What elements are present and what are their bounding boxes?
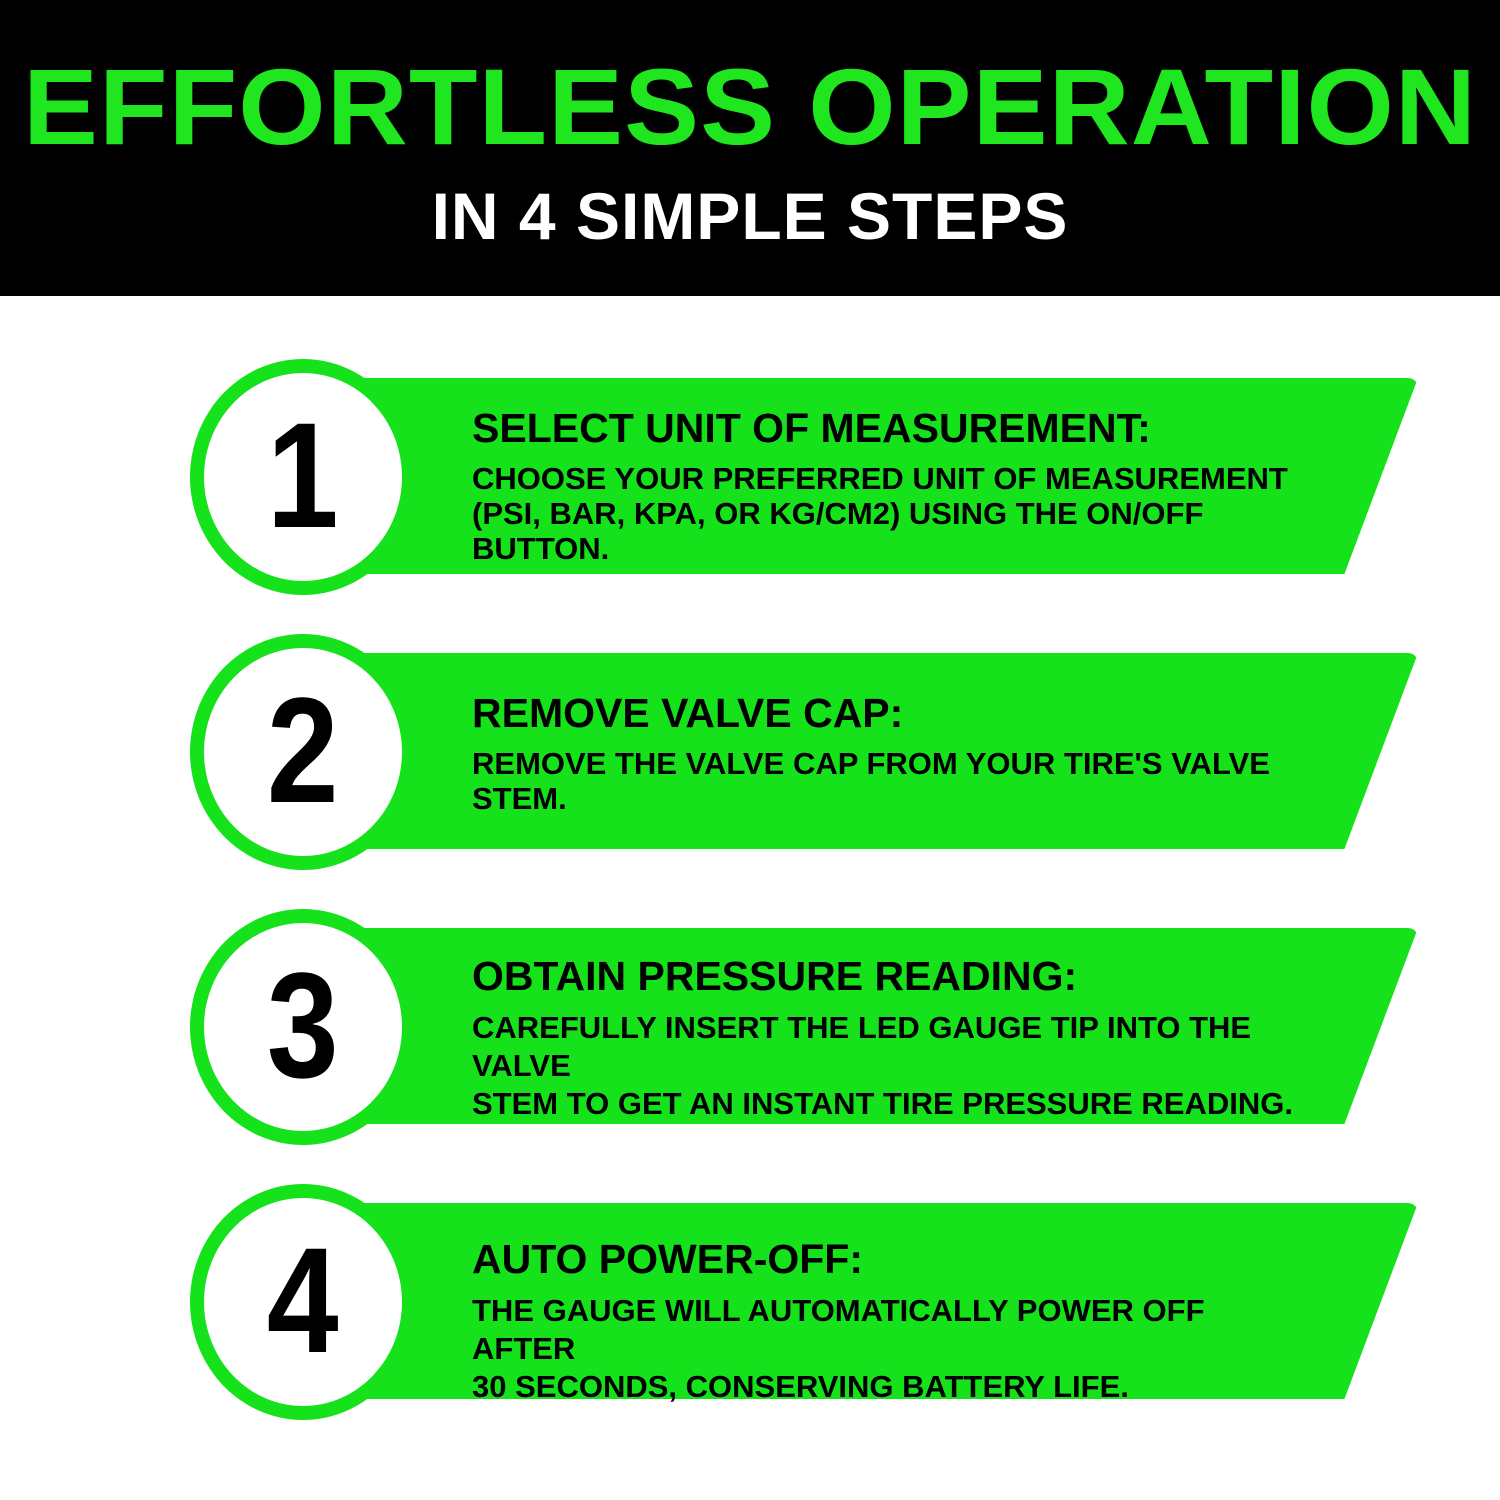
step-description: REMOVE THE VALVE CAP FROM YOUR TIRE'S VA… [472,746,1302,816]
step-item-2: 2 REMOVE VALVE CAP: REMOVE THE VALVE CAP… [0,631,1500,881]
step-number-label: 4 [267,1225,339,1375]
step-description: CHOOSE YOUR PREFERRED UNIT OF MEASUREMEN… [472,461,1302,566]
step-number-label: 1 [267,400,339,550]
step-text-block: OBTAIN PRESSURE READING: CAREFULLY INSER… [472,956,1302,1122]
step-title: AUTO POWER-OFF: [472,1239,1302,1280]
step-title: REMOVE VALVE CAP: [472,693,1302,734]
step-text-block: AUTO POWER-OFF: THE GAUGE WILL AUTOMATIC… [472,1239,1302,1405]
step-number-badge: 4 [190,1184,416,1420]
step-title: OBTAIN PRESSURE READING: [472,956,1302,997]
step-text-block: REMOVE VALVE CAP: REMOVE THE VALVE CAP F… [472,693,1302,816]
step-number-badge: 2 [190,634,416,870]
step-description: THE GAUGE WILL AUTOMATICALLY POWER OFF A… [472,1292,1302,1405]
step-text-block: SELECT UNIT OF MEASUREMENT: CHOOSE YOUR … [472,408,1302,566]
header-banner: EFFORTLESS OPERATION IN 4 SIMPLE STEPS [0,0,1500,296]
step-item-3: 3 OBTAIN PRESSURE READING: CAREFULLY INS… [0,906,1500,1156]
infographic-page: EFFORTLESS OPERATION IN 4 SIMPLE STEPS 1… [0,0,1500,1500]
step-number-badge: 3 [190,909,416,1145]
step-number-label: 2 [267,675,339,825]
step-item-4: 4 AUTO POWER-OFF: THE GAUGE WILL AUTOMAT… [0,1181,1500,1431]
page-subtitle: IN 4 SIMPLE STEPS [432,183,1069,249]
step-title: SELECT UNIT OF MEASUREMENT: [472,408,1302,449]
step-number-badge: 1 [190,359,416,595]
step-description: CAREFULLY INSERT THE LED GAUGE TIP INTO … [472,1009,1302,1122]
steps-list: 1 SELECT UNIT OF MEASUREMENT: CHOOSE YOU… [0,296,1500,1500]
step-number-label: 3 [267,950,339,1100]
step-item-1: 1 SELECT UNIT OF MEASUREMENT: CHOOSE YOU… [0,356,1500,606]
page-title: EFFORTLESS OPERATION [23,53,1477,161]
